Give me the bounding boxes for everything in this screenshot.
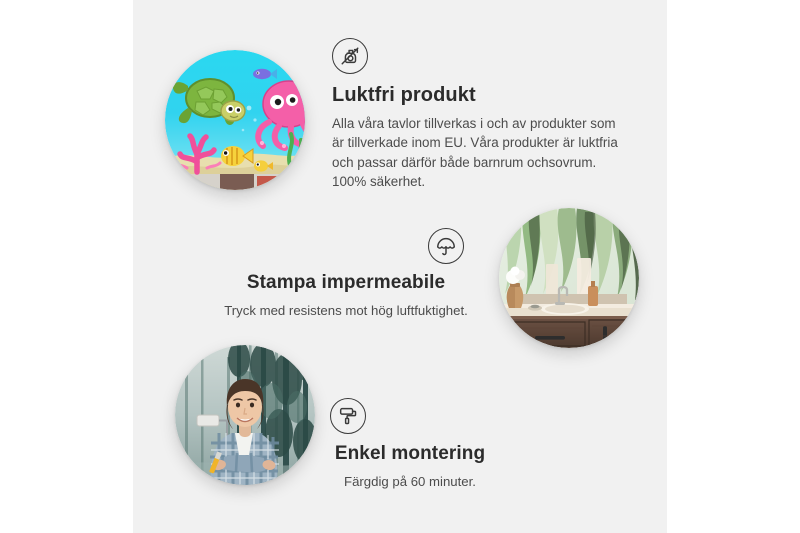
feature-title: Stampa impermeabile <box>218 272 474 294</box>
feature-title: Luktfri produkt <box>332 84 628 107</box>
umbrella-icon <box>428 228 464 264</box>
feature-title: Enkel montering <box>300 443 520 465</box>
feature-icon-wrap <box>332 38 628 74</box>
no-smell-spray-icon <box>332 38 368 74</box>
promo-banner: Luktfri produkt Alla våra tavlor tillver… <box>0 0 800 533</box>
feature-block-waterproof-print: Stampa impermeabile Tryck med resistens … <box>218 228 474 320</box>
feature-description: Alla våra tavlor tillverkas i och av pro… <box>332 114 628 192</box>
paint-roller-icon <box>330 398 366 434</box>
feature-icon-wrap <box>300 398 520 434</box>
underwater-sea-life-mural-photo <box>165 50 305 190</box>
woman-with-paint-roller-forest-mural-photo <box>175 345 315 485</box>
bathroom-tropical-wallpaper-photo <box>499 208 639 348</box>
feature-description: Tryck med resistens mot hög luftfuktighe… <box>218 301 474 320</box>
feature-block-easy-installation: Enkel montering Färgdig på 60 minuter. <box>300 398 520 491</box>
feature-block-odour-free: Luktfri produkt Alla våra tavlor tillver… <box>332 38 628 192</box>
feature-description: Färgdig på 60 minuter. <box>300 472 520 491</box>
feature-icon-wrap <box>218 228 474 264</box>
